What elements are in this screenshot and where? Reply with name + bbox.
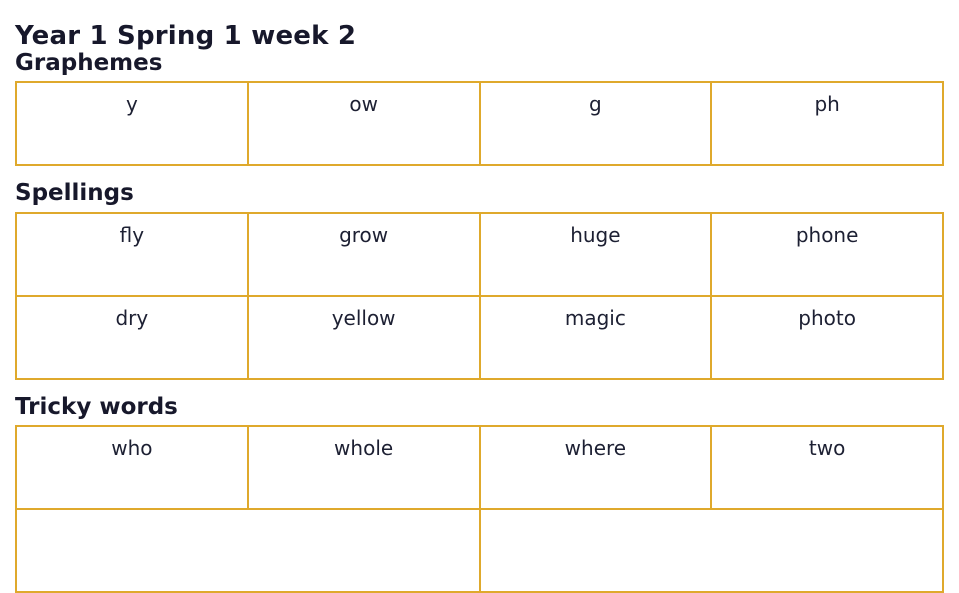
spelling-cell[interactable]: photo bbox=[711, 296, 943, 379]
tricky-word-cell[interactable]: two bbox=[711, 426, 943, 509]
section-heading-tricky-words: Tricky words bbox=[15, 392, 944, 425]
spelling-cell[interactable]: magic bbox=[480, 296, 712, 379]
table-row: dry yellow magic photo bbox=[16, 296, 943, 379]
tricky-word-blank-cell[interactable] bbox=[480, 509, 944, 592]
spelling-cell[interactable]: dry bbox=[16, 296, 248, 379]
spelling-cell[interactable]: fly bbox=[16, 213, 248, 296]
graphemes-table: y ow g ph bbox=[15, 81, 944, 166]
section-heading-graphemes: Graphemes bbox=[15, 50, 944, 81]
tricky-word-blank-cell[interactable] bbox=[16, 509, 480, 592]
section-heading-spellings: Spellings bbox=[15, 178, 944, 211]
grapheme-cell[interactable]: y bbox=[16, 82, 248, 165]
tricky-word-cell[interactable]: whole bbox=[248, 426, 480, 509]
page-title: Year 1 Spring 1 week 2 bbox=[15, 0, 944, 50]
table-row: fly grow huge phone bbox=[16, 213, 943, 296]
grapheme-cell[interactable]: ow bbox=[248, 82, 480, 165]
table-row: who whole where two bbox=[16, 426, 943, 509]
spelling-cell[interactable]: huge bbox=[480, 213, 712, 296]
table-row bbox=[16, 509, 943, 592]
grapheme-cell[interactable]: g bbox=[480, 82, 712, 165]
worksheet-page: Year 1 Spring 1 week 2 Graphemes y ow g … bbox=[0, 0, 959, 592]
spelling-cell[interactable]: yellow bbox=[248, 296, 480, 379]
grapheme-cell[interactable]: ph bbox=[711, 82, 943, 165]
table-row: y ow g ph bbox=[16, 82, 943, 165]
spelling-cell[interactable]: phone bbox=[711, 213, 943, 296]
spellings-table: fly grow huge phone dry yellow magic pho… bbox=[15, 212, 944, 380]
spelling-cell[interactable]: grow bbox=[248, 213, 480, 296]
tricky-word-cell[interactable]: who bbox=[16, 426, 248, 509]
tricky-word-cell[interactable]: where bbox=[480, 426, 712, 509]
tricky-words-table: who whole where two bbox=[15, 425, 944, 593]
